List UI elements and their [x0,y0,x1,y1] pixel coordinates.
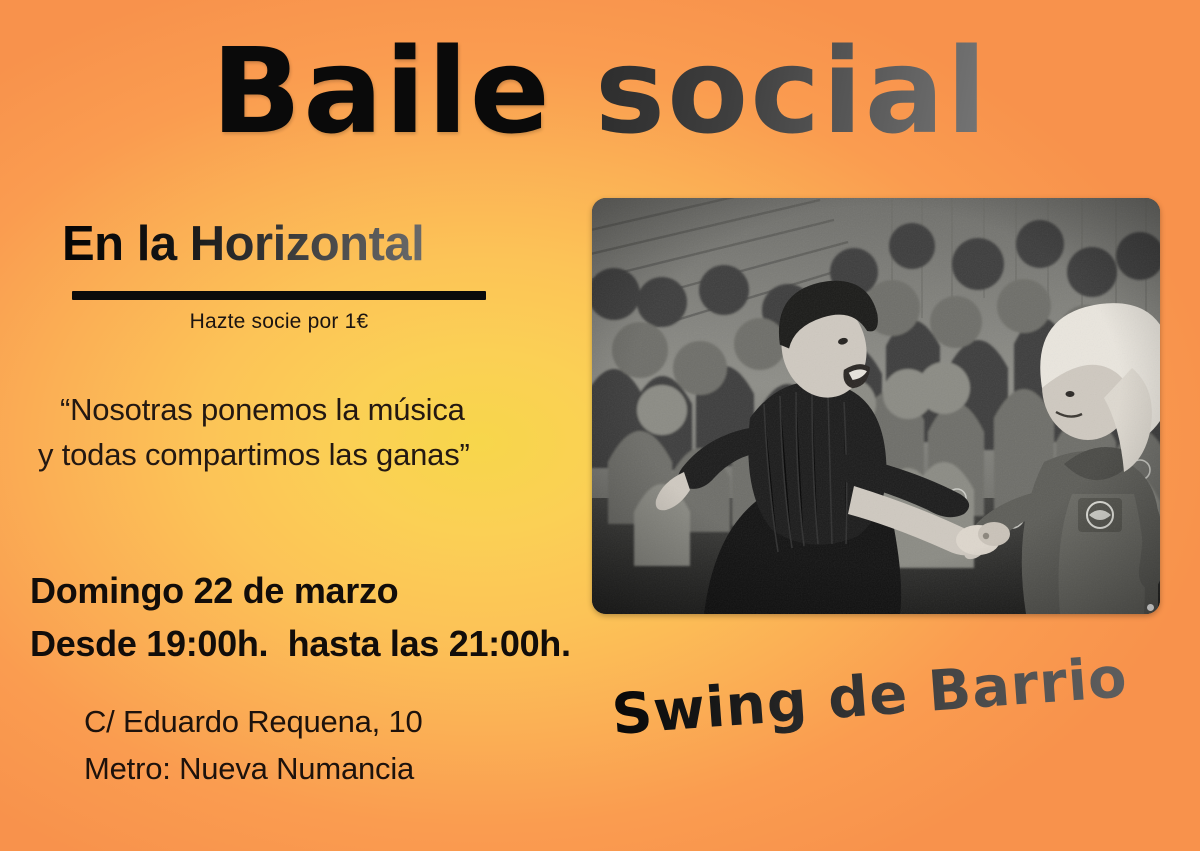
event-time: Desde 19:00h. hasta las 21:00h. [30,617,571,670]
photo-illustration [592,198,1160,614]
photo-corner-mark [1147,604,1154,611]
quote-block: “Nosotras ponemos la música y todas comp… [38,388,598,478]
event-photo [592,198,1160,614]
membership-note: Hazte socie por 1€ [72,310,486,334]
heading-divider [72,291,486,300]
organizer-brand: Swing de Barrio [610,645,1130,748]
poster-canvas: Baile social En la Horizontal Hazte soci… [0,0,1200,851]
address-street: C/ Eduardo Requena, 10 [84,698,423,745]
quote-line-1: “Nosotras ponemos la música [38,388,598,433]
event-date: Domingo 22 de marzo [30,564,571,617]
event-location: C/ Eduardo Requena, 10 Metro: Nueva Numa… [84,698,423,792]
title-word-baile: Baile [211,22,552,160]
page-title: Baile social [0,28,1200,155]
quote-line-2: y todas compartimos las ganas” [38,433,598,478]
title-word-social: social [595,22,989,160]
venue-heading: En la Horizontal [62,216,424,272]
event-schedule: Domingo 22 de marzo Desde 19:00h. hasta … [30,564,571,671]
address-metro: Metro: Nueva Numancia [84,745,423,792]
